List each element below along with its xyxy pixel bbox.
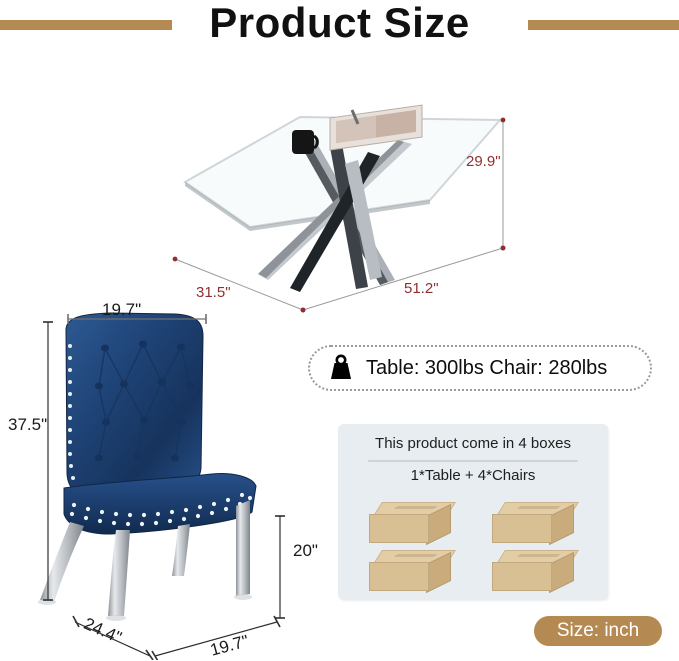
header: Product Size [0,0,679,52]
dimension-label-chair-back-width: 19.7" [102,300,141,320]
packaging-subtitle: 1*Table + 4*Chairs [350,466,596,486]
packaging-box-grid [350,498,596,594]
size-unit-badge: Size: inch [534,616,662,646]
weight-icon [326,353,356,383]
dimension-label-table-width: 51.2" [404,280,439,297]
carton-front [369,514,429,543]
chair-svg [0,300,340,660]
carton-front [369,562,429,591]
carton-front [492,514,552,543]
dimension-label-chair-total-height: 37.5" [8,415,47,435]
carton-tape [516,506,560,509]
carton-box-icon [369,502,455,542]
weight-capacity-text: Table: 300lbs Chair: 280lbs [366,357,607,380]
dimension-label-table-height: 29.9" [466,153,501,170]
dimension-label-chair-seat-height: 20" [293,541,318,561]
carton-tape [393,554,437,557]
packaging-title: This product come in 4 boxes [350,434,596,454]
product-size-infographic: Product Size [0,0,679,659]
packaging-divider [368,460,578,462]
weight-capacity-badge: Table: 300lbs Chair: 280lbs [308,345,652,391]
packaging-panel: This product come in 4 boxes 1*Table + 4… [338,424,608,600]
page-title: Product Size [0,0,679,47]
dimension-label-table-depth: 31.5" [196,284,231,301]
carton-tape [393,506,437,509]
carton-tape [516,554,560,557]
carton-box-icon [492,550,578,590]
carton-box-icon [369,550,455,590]
carton-front [492,562,552,591]
carton-box-icon [492,502,578,542]
